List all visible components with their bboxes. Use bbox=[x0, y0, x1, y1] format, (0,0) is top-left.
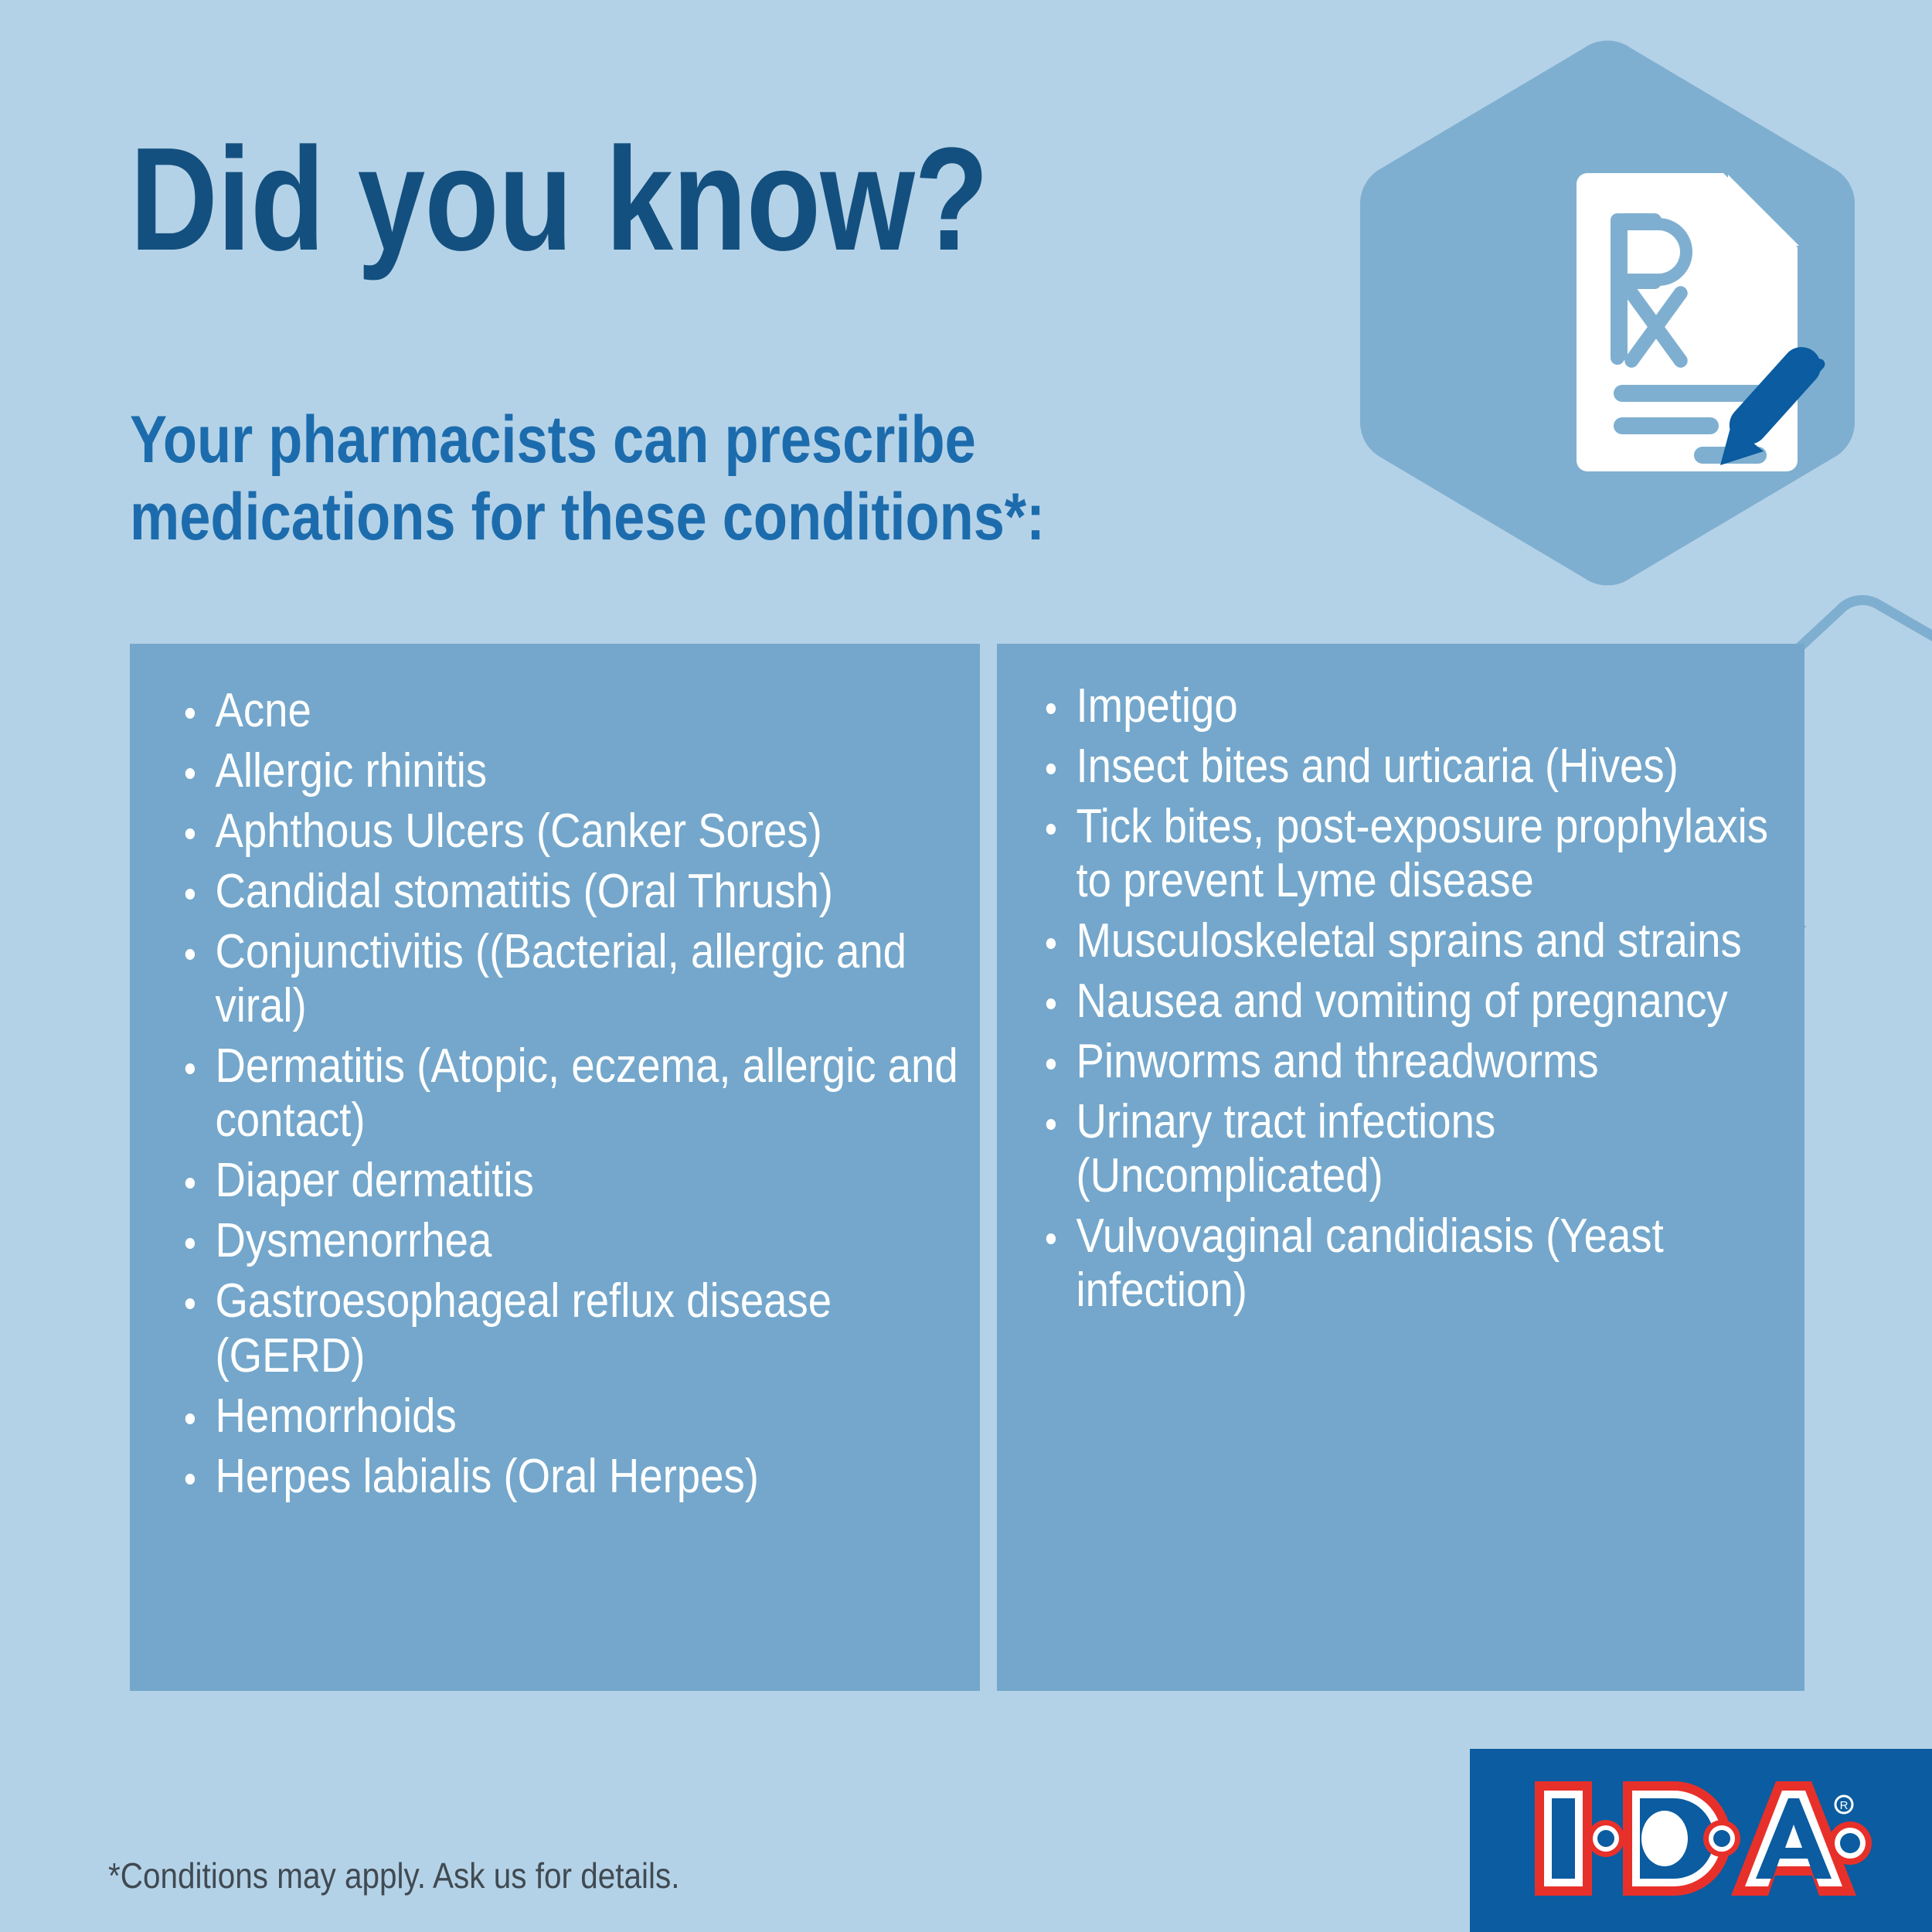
conditions-list-right: Impetigo Insect bites and urticaria (Hiv… bbox=[997, 644, 1804, 1318]
list-item: Conjunctivitis ((Bacterial, allergic and… bbox=[184, 925, 984, 1033]
list-item: Pinworms and threadworms bbox=[1045, 1035, 1808, 1089]
list-item: Dermatitis (Atopic, eczema, allergic and… bbox=[184, 1039, 984, 1148]
list-item: Urinary tract infections (Uncomplicated) bbox=[1045, 1095, 1808, 1203]
list-item: Musculoskeletal sprains and strains bbox=[1045, 914, 1808, 968]
conditions-panel-left: Acne Allergic rhinitis Aphthous Ulcers (… bbox=[130, 644, 980, 1691]
ida-logo-block: R bbox=[1470, 1749, 1932, 1932]
page-title: Did you know? bbox=[130, 126, 988, 273]
list-item: Dysmenorrhea bbox=[184, 1214, 984, 1268]
logo-letter-i bbox=[1535, 1781, 1592, 1896]
list-item: Hemorrhoids bbox=[184, 1389, 984, 1444]
list-item: Candidal stomatitis (Oral Thrush) bbox=[184, 865, 984, 919]
subtitle: Your pharmacists can prescribe medicatio… bbox=[130, 402, 1045, 556]
conditions-list-left: Acne Allergic rhinitis Aphthous Ulcers (… bbox=[130, 644, 980, 1504]
list-item: Gastroesophageal reflux disease (GERD) bbox=[184, 1274, 984, 1383]
list-item: Aphthous Ulcers (Canker Sores) bbox=[184, 804, 984, 859]
logo-dot-1 bbox=[1587, 1820, 1624, 1857]
list-item: Tick bites, post-exposure prophylaxis to… bbox=[1045, 800, 1808, 908]
logo-dot-2 bbox=[1703, 1820, 1740, 1857]
list-item: Allergic rhinitis bbox=[184, 744, 984, 798]
footnote: *Conditions may apply. Ask us for detail… bbox=[108, 1855, 680, 1896]
list-item: Nausea and vomiting of pregnancy bbox=[1045, 975, 1808, 1029]
registered-trademark-icon: R bbox=[1835, 1796, 1852, 1813]
ida-logo: R bbox=[1532, 1777, 1872, 1900]
document-line-2 bbox=[1614, 417, 1719, 434]
list-item: Acne bbox=[184, 684, 984, 738]
rx-letter-r-left bbox=[1611, 213, 1624, 365]
rx-prescription-document-icon bbox=[1577, 162, 1839, 471]
poster-canvas: Did you know? Your pharmacists can presc… bbox=[0, 0, 1932, 1932]
list-item: Impetigo bbox=[1045, 679, 1808, 733]
conditions-panel-right: Impetigo Insect bites and urticaria (Hiv… bbox=[997, 644, 1804, 1691]
list-item: Insect bites and urticaria (Hives) bbox=[1045, 740, 1808, 794]
logo-dot-3 bbox=[1828, 1821, 1872, 1865]
list-item: Herpes labialis (Oral Herpes) bbox=[184, 1450, 984, 1504]
subtitle-line-2: medications for these conditions*: bbox=[130, 479, 1045, 556]
list-item: Vulvovaginal candidiasis (Yeast infectio… bbox=[1045, 1209, 1808, 1318]
subtitle-line-1: Your pharmacists can prescribe bbox=[130, 402, 1045, 479]
list-item: Diaper dermatitis bbox=[184, 1154, 984, 1208]
svg-text:R: R bbox=[1840, 1799, 1849, 1812]
document-folded-corner bbox=[1728, 175, 1799, 246]
document-line-1 bbox=[1614, 385, 1767, 402]
